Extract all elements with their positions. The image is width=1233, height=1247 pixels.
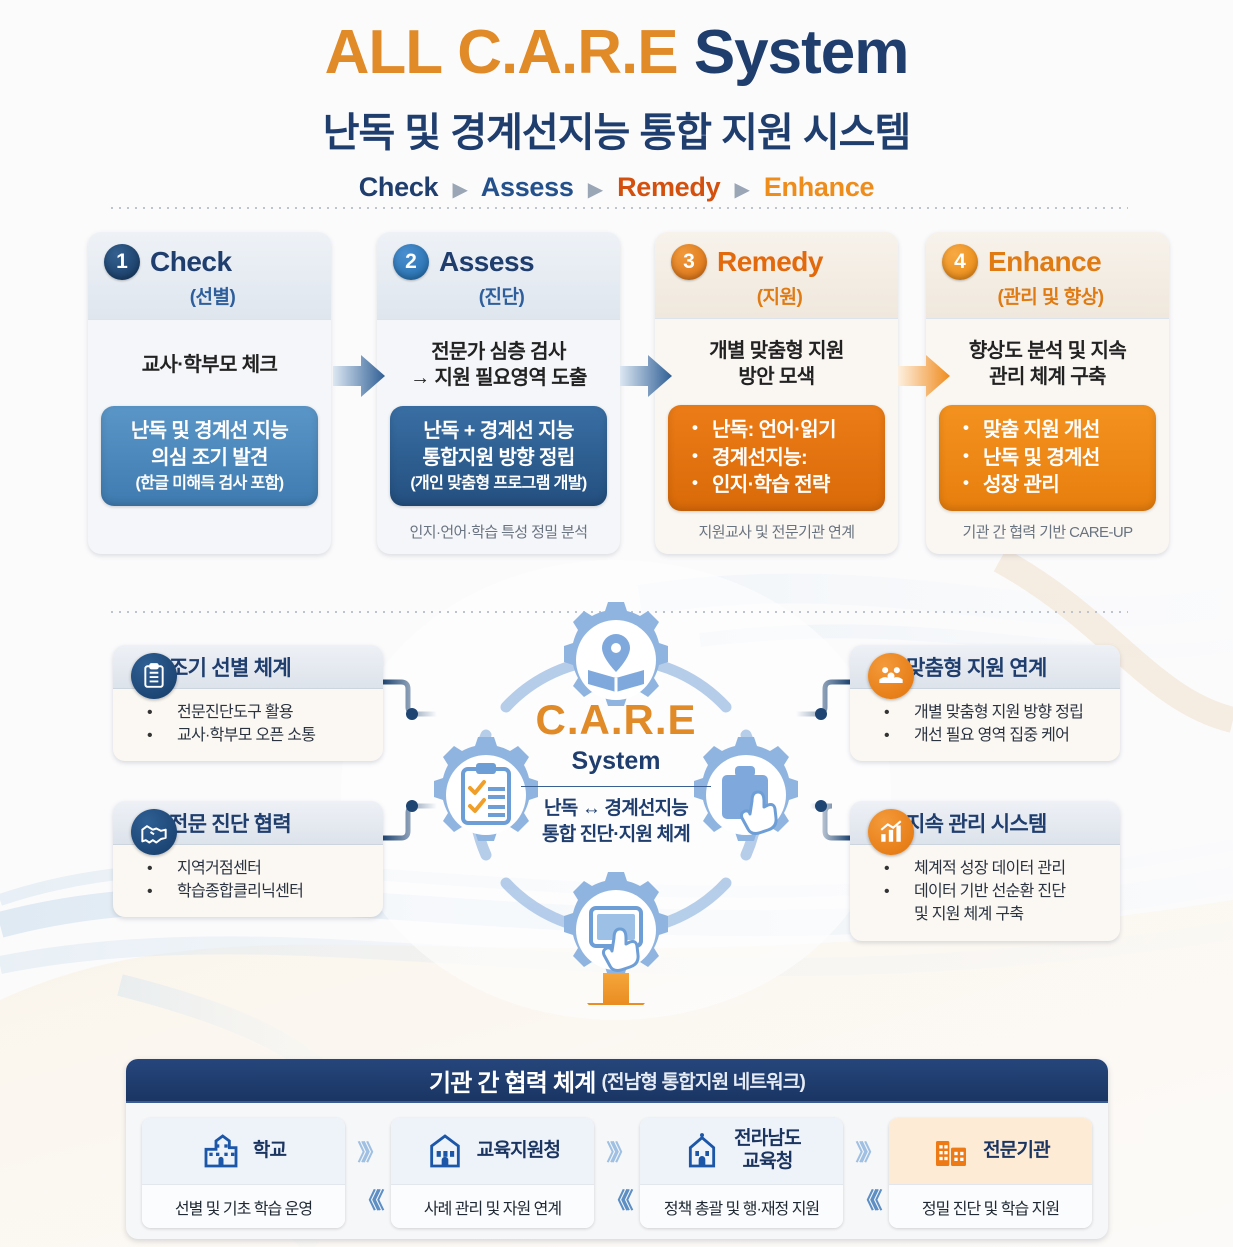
- card-title-remedy: Remedy: [717, 246, 823, 278]
- network-item-label: 전문기관: [983, 1140, 1050, 1163]
- title-care: C.A.R.E: [457, 18, 677, 87]
- info-box-item: 및 지원 체계 구축: [860, 903, 1108, 926]
- card-pill-check: 난독 및 경계선 지능 의심 조기 발견 (한글 미해득 검사 포함): [101, 406, 318, 506]
- card-lead-enhance: 향상도 분석 및 지속 관리 체계 구축: [969, 319, 1126, 405]
- chevron-right-icon-3: ▶: [728, 179, 757, 201]
- pill-line-2: 의심 조기 발견: [111, 445, 308, 472]
- arrow-remedy-to-enhance: [898, 354, 950, 398]
- card-footer-assess: 인지·언어·학습 특성 정밀 분석: [410, 511, 588, 554]
- school-building-icon: [201, 1131, 241, 1171]
- card-footer-remedy: 지원교사 및 전문기관 연계: [699, 511, 855, 554]
- network-item-role: 선별 및 기초 학습 운영: [142, 1184, 345, 1228]
- card-lead-line-2: → 지원 필요영역 도출: [410, 365, 587, 391]
- office-building-icon: [425, 1131, 465, 1171]
- info-box-title: 조기 선별 체계: [169, 652, 291, 682]
- care-divider: [521, 786, 711, 787]
- network-connector-2: 》》 《《: [594, 1117, 640, 1229]
- chevron-right-icon-1: ▶: [445, 179, 474, 201]
- pill-bullet-2: 난독 및 경계선: [961, 445, 1146, 472]
- card-lead-line-2: 관리 체계 구축: [969, 364, 1126, 390]
- card-lead-line-1: 향상도 분석 및 지속: [969, 338, 1126, 364]
- card-subtitle-remedy: (지원): [671, 282, 888, 309]
- card-title-assess: Assess: [439, 246, 534, 278]
- network-item-label: 교육지원청: [477, 1140, 560, 1163]
- info-box-customized-support[interactable]: 맞춤형 지원 연계 개별 맞춤형 지원 방향 정립 개선 필요 영역 집중 케어: [850, 645, 1120, 761]
- card-lead-line-1: 개별 맞춤형 지원: [709, 338, 844, 364]
- card-title-enhance: Enhance: [988, 246, 1101, 278]
- network-connector-3: 》》 《《: [843, 1117, 889, 1229]
- page-title: ALL C.A.R.E System: [0, 0, 1233, 84]
- gear-book-location-icon: [564, 602, 668, 706]
- card-lead-line: 교사·학부모 체크: [142, 352, 278, 378]
- step-sequence: Check ▶ Assess ▶ Remedy ▶ Enhance: [0, 172, 1233, 203]
- info-box-item: 전문진단도구 활용: [123, 701, 371, 724]
- network-connector-1: 》》 《《: [345, 1117, 391, 1229]
- pill-bullet-1: 난독: 언어·읽기: [690, 417, 875, 444]
- pill-bullet-2-cont: 인지·학습 전략: [690, 472, 875, 499]
- pill-note: (한글 미해득 검사 포함): [111, 473, 308, 494]
- network-item-role: 정책 총괄 및 행·재정 지원: [640, 1184, 843, 1228]
- info-box-item: 지역거점센터: [123, 857, 371, 880]
- government-building-icon: [682, 1131, 722, 1171]
- info-box-item: 개별 맞춤형 지원 방향 정립: [860, 701, 1108, 724]
- title-system: System: [694, 18, 909, 87]
- network-header: 기관 간 협력 체계 (전남형 통합지원 네트워크): [126, 1059, 1108, 1103]
- clipboard-list-icon: [131, 653, 177, 699]
- divider-top: [108, 207, 1128, 209]
- step-number-badge-2: 2: [393, 244, 429, 280]
- arrow-down-to-network: [587, 973, 645, 1005]
- bar-chart-growth-icon: [868, 809, 914, 855]
- network-item-district-office[interactable]: 교육지원청 사례 관리 및 자원 연계: [391, 1118, 594, 1228]
- chevron-forward-icon: 》》: [345, 1135, 391, 1167]
- info-box-title: 전문 진단 협력: [169, 808, 291, 838]
- step-label-check: Check: [359, 172, 439, 202]
- network-item-provincial-office[interactable]: 전라남도 교육청 정책 총괄 및 행·재정 지원: [640, 1118, 843, 1228]
- network-title: 기관 간 협력 체계: [429, 1063, 596, 1098]
- step-cards-row: 1 Check (선별) 교사·학부모 체크 난독 및 경계선 지능 의심 조기…: [0, 232, 1233, 562]
- info-box-item: 학습종합클리닉센터: [123, 880, 371, 903]
- info-box-item: 데이터 기반 선순환 진단: [860, 880, 1108, 903]
- card-lead-line-2: 방안 모색: [709, 364, 844, 390]
- info-box-expert-diagnosis[interactable]: 전문 진단 협력 지역거점센터 학습종합클리닉센터: [113, 801, 383, 917]
- page-header: ALL C.A.R.E System 난독 및 경계선지능 통합 지원 시스템 …: [0, 0, 1233, 203]
- gear-tablet-hand-icon: [564, 872, 668, 976]
- pill-bullet-2: 경계선지능:: [690, 445, 875, 472]
- network-subtitle: (전남형 통합지원 네트워크): [602, 1067, 806, 1094]
- card-lead-check: 교사·학부모 체크: [142, 320, 278, 406]
- card-subtitle-enhance: (관리 및 향상): [942, 282, 1159, 309]
- network-panel: 기관 간 협력 체계 (전남형 통합지원 네트워크) 학교 선별 및 기초 학습…: [126, 1059, 1108, 1239]
- card-pill-assess: 난독 + 경계선 지능 통합지원 방향 정립 (개인 맞춤형 프로그램 개발): [390, 406, 607, 506]
- pill-bullet-2-cont: 성장 관리: [961, 472, 1146, 499]
- chevron-forward-icon: 》》: [594, 1135, 640, 1167]
- card-lead-remedy: 개별 맞춤형 지원 방안 모색: [709, 319, 844, 405]
- arrow-assess-to-remedy: [620, 354, 672, 398]
- step-card-check[interactable]: 1 Check (선별) 교사·학부모 체크 난독 및 경계선 지능 의심 조기…: [88, 232, 331, 554]
- info-box-continuous-management[interactable]: 지속 관리 시스템 체계적 성장 데이터 관리 데이터 기반 선순환 진단 및 …: [850, 801, 1120, 941]
- step-label-enhance: Enhance: [764, 172, 874, 202]
- chevron-back-icon: 《《: [594, 1183, 640, 1215]
- card-lead-line-1: 전문가 심층 검사: [410, 339, 587, 365]
- people-group-icon: [868, 653, 914, 699]
- chevron-back-icon: 《《: [345, 1183, 391, 1215]
- info-box-item: 교사·학부모 오픈 소통: [123, 724, 371, 747]
- card-header-remedy: 3 Remedy (지원): [655, 232, 898, 319]
- arrow-check-to-assess: [333, 354, 385, 398]
- page-subtitle: 난독 및 경계선지능 통합 지원 시스템: [0, 100, 1233, 158]
- step-number-badge-4: 4: [942, 244, 978, 280]
- card-subtitle-assess: (진단): [393, 282, 610, 309]
- pill-line-1: 난독 + 경계선 지능: [400, 418, 597, 445]
- care-center-label: C.A.R.E System 난독 ↔ 경계선지능 통합 진단·지원 체계: [466, 699, 766, 847]
- step-card-enhance[interactable]: 4 Enhance (관리 및 향상) 향상도 분석 및 지속 관리 체계 구축…: [926, 232, 1169, 554]
- network-item-specialized-institution[interactable]: 전문기관 정밀 진단 및 학습 지원: [889, 1118, 1092, 1228]
- info-box-title: 지속 관리 시스템: [906, 808, 1047, 838]
- step-card-remedy[interactable]: 3 Remedy (지원) 개별 맞춤형 지원 방안 모색 난독: 언어·읽기 …: [655, 232, 898, 554]
- care-description-line-1: 난독 ↔ 경계선지능: [466, 796, 766, 822]
- info-box-item: 개선 필요 영역 집중 케어: [860, 724, 1108, 747]
- network-item-label: 전라남도 교육청: [734, 1128, 801, 1174]
- care-description-line-2: 통합 진단·지원 체계: [466, 822, 766, 848]
- network-item-role: 사례 관리 및 자원 연계: [391, 1184, 594, 1228]
- care-title: C.A.R.E: [466, 699, 766, 741]
- step-number-badge-3: 3: [671, 244, 707, 280]
- card-header-check: 1 Check (선별): [88, 232, 331, 320]
- chevron-right-icon-2: ▶: [581, 179, 610, 201]
- card-pill-remedy: 난독: 언어·읽기 경계선지능: 인지·학습 전략: [668, 405, 885, 511]
- network-item-label: 학교: [253, 1140, 286, 1163]
- info-box-title: 맞춤형 지원 연계: [906, 652, 1047, 682]
- pill-line-2: 통합지원 방향 정립: [400, 445, 597, 472]
- card-subtitle-check: (선별): [104, 282, 321, 309]
- card-pill-enhance: 맞춤 지원 개선 난독 및 경계선 성장 관리: [939, 405, 1156, 511]
- pill-line-1: 난독 및 경계선 지능: [111, 418, 308, 445]
- card-footer-enhance: 기관 간 협력 기반 CARE-UP: [963, 511, 1133, 554]
- step-number-badge-1: 1: [104, 244, 140, 280]
- institution-building-icon: [931, 1131, 971, 1171]
- handshake-icon: [131, 809, 177, 855]
- card-header-enhance: 4 Enhance (관리 및 향상): [926, 232, 1169, 319]
- care-system-hub: C.A.R.E System 난독 ↔ 경계선지능 통합 진단·지원 체계 조기…: [0, 585, 1233, 1005]
- care-system-label: System: [466, 747, 766, 776]
- step-card-assess[interactable]: 2 Assess (진단) 전문가 심층 검사 → 지원 필요영역 도출 난독 …: [377, 232, 620, 554]
- card-title-check: Check: [150, 246, 232, 278]
- card-header-assess: 2 Assess (진단): [377, 232, 620, 320]
- title-all: ALL: [325, 18, 441, 87]
- step-label-assess: Assess: [481, 172, 574, 202]
- network-item-role: 정밀 진단 및 학습 지원: [889, 1184, 1092, 1228]
- chevron-back-icon: 《《: [843, 1183, 889, 1215]
- card-lead-assess: 전문가 심층 검사 → 지원 필요영역 도출: [410, 320, 587, 406]
- step-label-remedy: Remedy: [617, 172, 720, 202]
- pill-note: (개인 맞춤형 프로그램 개발): [400, 473, 597, 494]
- info-box-item: 체계적 성장 데이터 관리: [860, 857, 1108, 880]
- pill-bullet-1: 맞춤 지원 개선: [961, 417, 1146, 444]
- chevron-forward-icon: 》》: [843, 1135, 889, 1167]
- network-item-school[interactable]: 학교 선별 및 기초 학습 운영: [142, 1118, 345, 1228]
- info-box-early-screening[interactable]: 조기 선별 체계 전문진단도구 활용 교사·학부모 오픈 소통: [113, 645, 383, 761]
